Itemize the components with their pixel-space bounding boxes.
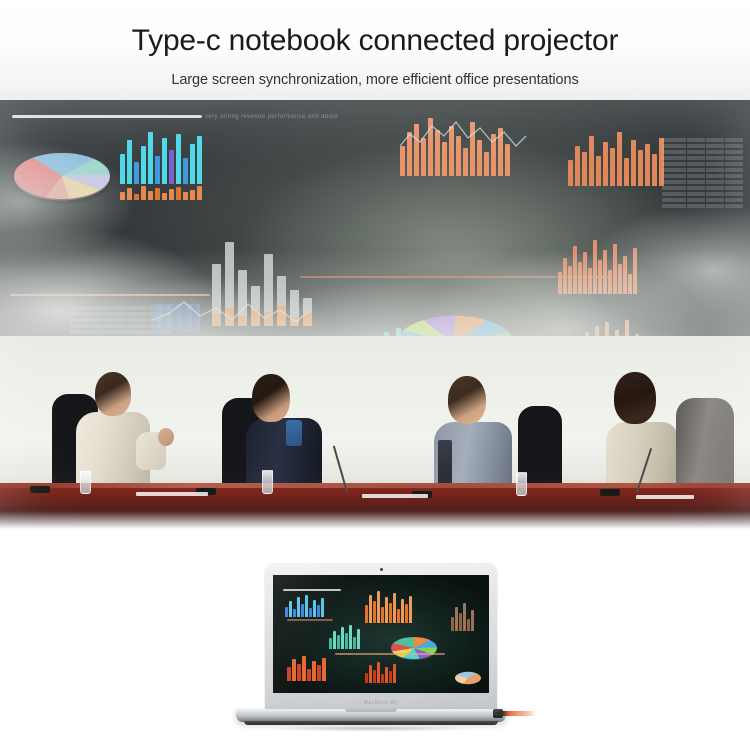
laptop-lid: MacBook Air [265,563,497,711]
webcam-icon [380,568,383,571]
laptop-shadow [230,725,512,732]
pie-chart-left [14,153,110,199]
laptop-section: MacBook Air [0,529,750,750]
attendee-2-head [252,374,290,422]
laptop-brand-label: MacBook Air [265,700,497,706]
conference-room [0,336,750,529]
water-glass-3 [516,472,527,496]
papers-3 [636,495,694,499]
page-title: Type-c notebook connected projector [0,24,750,58]
data-table-right [662,138,743,210]
laptop-screen-dashboard [273,575,489,693]
hero-bottom-fade [0,511,750,529]
bar-chart-orange-center-right [558,236,637,294]
line-chart-center [150,290,310,334]
laptop-screen-glare [273,575,489,693]
attendee-1-head [95,372,131,416]
page-header: Type-c notebook connected projector Larg… [0,0,750,102]
laptop-base-foot [244,721,498,725]
page-subtitle: Large screen synchronization, more effic… [0,72,750,88]
type-c-cable [498,711,536,716]
microphone-base-4 [600,489,620,496]
screen-rule-topleft [12,115,202,118]
screen-ghost-heading: very strong revenue performance and abou… [205,114,338,120]
laptop-base-notch [345,709,397,712]
water-glass-1 [80,470,91,494]
papers-2 [362,494,428,498]
papers-1 [136,492,208,496]
hero-image: very strong revenue performance and abou… [0,100,750,529]
bar-chart-orange-far-right [568,130,664,186]
attendee-2-collar [286,420,302,446]
bar-chart-orange-small-top [120,184,202,200]
screen-rule-center [300,276,610,278]
attendee-1-fist [158,428,174,446]
line-chart-top-right [398,112,528,166]
microphone-base-1 [30,486,50,493]
water-glass-2 [262,470,273,494]
bar-chart-cyan-top [120,128,202,184]
attendee-4-head [614,372,656,424]
attendee-3-head [448,376,486,424]
